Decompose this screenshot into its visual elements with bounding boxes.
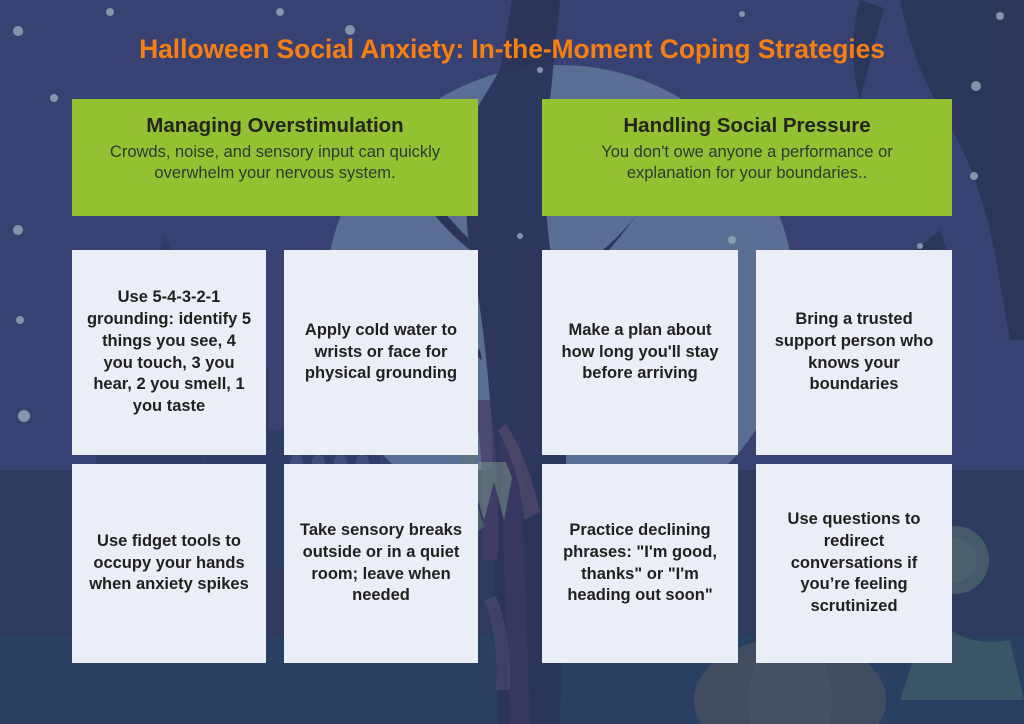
header-title: Handling Social Pressure <box>558 113 936 140</box>
header-subtitle: You don't owe anyone a performance or ex… <box>558 142 936 185</box>
strategy-card: Use 5-4-3-2-1 grounding: identify 5 thin… <box>72 250 266 455</box>
strategy-card: Bring a trusted support person who knows… <box>756 250 952 455</box>
infographic-canvas: Halloween Social Anxiety: In-the-Moment … <box>0 0 1024 724</box>
page-title: Halloween Social Anxiety: In-the-Moment … <box>0 34 1024 65</box>
header-card-managing-overstimulation: Managing Overstimulation Crowds, noise, … <box>72 99 478 216</box>
card-row-2-left: Use fidget tools to occupy your hands wh… <box>72 464 478 663</box>
header-title: Managing Overstimulation <box>88 113 462 140</box>
card-row-1-right: Make a plan about how long you'll stay b… <box>542 250 952 455</box>
strategy-card: Practice declining phrases: "I'm good, t… <box>542 464 738 663</box>
card-row-1-left: Use 5-4-3-2-1 grounding: identify 5 thin… <box>72 250 478 455</box>
header-card-handling-social-pressure: Handling Social Pressure You don't owe a… <box>542 99 952 216</box>
strategy-card: Use questions to redirect conversations … <box>756 464 952 663</box>
strategy-card: Use fidget tools to occupy your hands wh… <box>72 464 266 663</box>
strategy-card: Apply cold water to wrists or face for p… <box>284 250 478 455</box>
header-subtitle: Crowds, noise, and sensory input can qui… <box>88 142 462 185</box>
strategy-card: Take sensory breaks outside or in a quie… <box>284 464 478 663</box>
card-row-2-right: Practice declining phrases: "I'm good, t… <box>542 464 952 663</box>
strategy-card: Make a plan about how long you'll stay b… <box>542 250 738 455</box>
content-grid: Managing Overstimulation Crowds, noise, … <box>0 0 1024 724</box>
